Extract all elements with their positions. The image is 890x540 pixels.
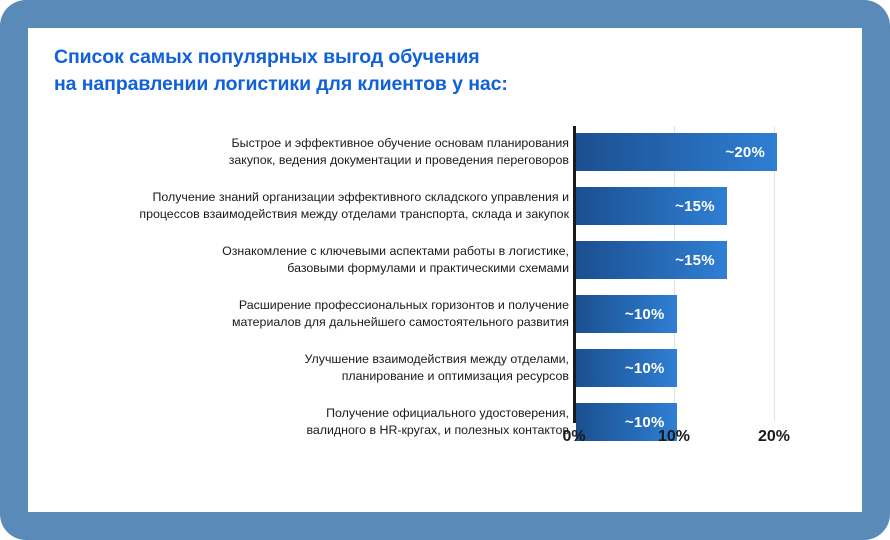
- bar-category-label-line-2: материалов для дальнейшего самостоятельн…: [139, 314, 569, 331]
- bar-category-label: Быстрое и эффективное обучение основам п…: [139, 135, 569, 169]
- slide-card: Список самых популярных выгод обучения н…: [28, 28, 862, 512]
- bar-value-label: ~15%: [675, 198, 727, 215]
- page-title-line-1: Список самых популярных выгод обучения: [54, 44, 694, 71]
- bar[interactable]: ~15%: [576, 241, 727, 279]
- page-title-line-2: на направлении логистики для клиентов у …: [54, 71, 694, 98]
- bar[interactable]: ~15%: [576, 187, 727, 225]
- bar[interactable]: ~10%: [576, 295, 677, 333]
- x-axis-tick-10: 10%: [634, 428, 714, 446]
- table-row: Получение знаний организации эффективног…: [28, 187, 862, 225]
- bar-category-label-line-1: Получение официального удостоверения,: [139, 405, 569, 422]
- table-row: Быстрое и эффективное обучение основам п…: [28, 133, 862, 171]
- bar-category-label: Ознакомление с ключевыми аспектами работ…: [139, 243, 569, 277]
- table-row: Улучшение взаимодействия между отделами,…: [28, 349, 862, 387]
- bar-chart: Быстрое и эффективное обучение основам п…: [28, 104, 862, 484]
- bar[interactable]: ~20%: [576, 133, 777, 171]
- bar-category-label-line-1: Улучшение взаимодействия между отделами,: [139, 351, 569, 368]
- bar-category-label: Получение знаний организации эффективног…: [139, 189, 569, 223]
- bar-category-label-line-2: базовыми формулами и практическими схема…: [139, 260, 569, 277]
- bar-category-label-line-2: валидного в HR-кругах, и полезных контак…: [139, 422, 569, 439]
- bar-category-label-line-1: Получение знаний организации эффективног…: [139, 189, 569, 206]
- bar-value-label: ~20%: [725, 144, 777, 161]
- bar-category-label: Получение официального удостоверения,вал…: [139, 405, 569, 439]
- bar-category-label: Улучшение взаимодействия между отделами,…: [139, 351, 569, 385]
- table-row: Расширение профессиональных горизонтов и…: [28, 295, 862, 333]
- x-axis-tick-0: 0%: [534, 428, 614, 446]
- bar-value-label: ~10%: [625, 360, 677, 377]
- bar-category-label-line-1: Быстрое и эффективное обучение основам п…: [139, 135, 569, 152]
- bar-category-label-line-1: Ознакомление с ключевыми аспектами работ…: [139, 243, 569, 260]
- table-row: Ознакомление с ключевыми аспектами работ…: [28, 241, 862, 279]
- bar[interactable]: ~10%: [576, 349, 677, 387]
- bar-category-label-line-2: закупок, ведения документации и проведен…: [139, 152, 569, 169]
- bar-category-label: Расширение профессиональных горизонтов и…: [139, 297, 569, 331]
- page-title: Список самых популярных выгод обучения н…: [54, 44, 694, 98]
- bar-category-label-line-1: Расширение профессиональных горизонтов и…: [139, 297, 569, 314]
- bar-category-label-line-2: планирование и оптимизация ресурсов: [139, 368, 569, 385]
- x-axis-tick-20: 20%: [734, 428, 814, 446]
- slide-frame: Список самых популярных выгод обучения н…: [0, 0, 890, 540]
- bar-category-label-line-2: процессов взаимодействия между отделами …: [139, 206, 569, 223]
- bar-value-label: ~15%: [675, 252, 727, 269]
- bar-value-label: ~10%: [625, 306, 677, 323]
